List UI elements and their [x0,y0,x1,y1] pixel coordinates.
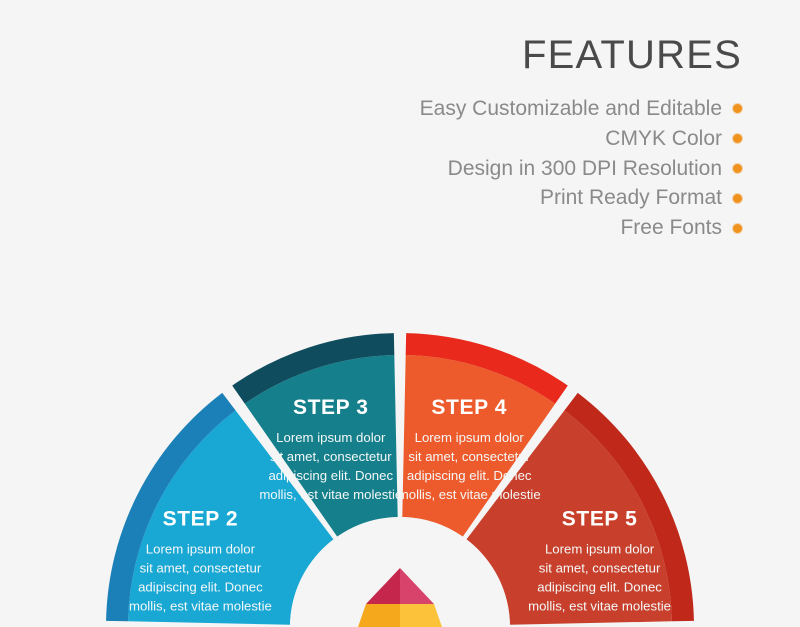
infographic-canvas: FEATURES Easy Customizable and EditableC… [0,0,800,627]
segment-title: STEP 3 [293,396,369,419]
segment-body-line: Lorem ipsum dolor [545,541,655,556]
segment-body-line: sit amet, consectetur [408,449,530,464]
segment-title: STEP 5 [562,507,638,530]
segment-body-line: mollis, est vitae molestie [398,487,541,502]
segment-body-line: adipiscing elit. Donec [268,468,393,483]
segment-body-line: sit amet, consectetur [270,449,392,464]
segment-body-line: adipiscing elit. Donec [537,579,662,594]
segment-body-line: sit amet, consectetur [140,560,262,575]
step-wheel: STEP 2Lorem ipsum dolorsit amet, consect… [0,0,800,627]
segment-body-line: adipiscing elit. Donec [407,468,532,483]
segment-title: STEP 4 [431,396,507,419]
segment-body-line: adipiscing elit. Donec [138,579,263,594]
segment-body-line: Lorem ipsum dolor [276,430,386,445]
segment-body-line: mollis, est vitae molestie [528,598,671,613]
segment-body-line: mollis, est vitae molestie [129,598,272,613]
segment-body-line: Lorem ipsum dolor [415,430,525,445]
segment-body-line: mollis, est vitae molestie [259,487,402,502]
segment-body-line: sit amet, consectetur [539,560,661,575]
segment-title: STEP 2 [163,507,239,530]
segment-body-line: Lorem ipsum dolor [146,541,256,556]
